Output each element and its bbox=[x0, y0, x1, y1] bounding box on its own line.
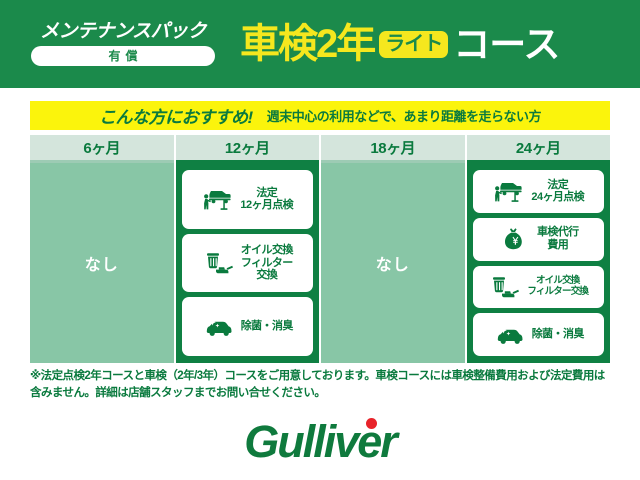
service-chip: オイル交換 フィルター交換 bbox=[473, 266, 605, 309]
car-lift-inspection-icon bbox=[492, 178, 526, 204]
schedule-column-3: 24ヶ月法定 24ヶ月点検車検代行 費用オイル交換 フィルター交換除菌・消臭 bbox=[467, 135, 611, 363]
column-header-label: 6ヶ月 bbox=[30, 135, 174, 160]
service-chip: 法定 24ヶ月点検 bbox=[473, 170, 605, 213]
header-pack-group: メンテナンスパック 有償 bbox=[12, 22, 234, 66]
header-course-group: 車検2年 ライト コース bbox=[240, 24, 640, 64]
no-service-label: なし bbox=[85, 251, 119, 275]
service-chip-label: オイル交換 フィルター 交換 bbox=[241, 244, 293, 282]
service-chip-label: 除菌・消臭 bbox=[241, 320, 293, 333]
car-lift-inspection-icon bbox=[201, 186, 235, 212]
sparkling-car-icon bbox=[493, 322, 527, 348]
oil-filter-change-icon bbox=[202, 250, 236, 276]
service-chip-label: 法定 24ヶ月点検 bbox=[531, 179, 584, 204]
column-body: なし bbox=[30, 163, 174, 363]
logo-i-dot-icon bbox=[366, 418, 377, 429]
service-chip-label: 法定 12ヶ月点検 bbox=[240, 187, 293, 212]
footnote-text: ※法定点検2年コースと車検（2年/3年）コースをご用意しております。車検コースに… bbox=[30, 368, 612, 401]
recommendation-heading: こんな方におすすめ! bbox=[99, 103, 253, 128]
maintenance-pack-promo-page: メンテナンスパック 有償 車検2年 ライト コース こんな方におすすめ! 週末中… bbox=[0, 0, 640, 480]
service-chip-label: 車検代行 費用 bbox=[537, 226, 579, 251]
service-chip: 除菌・消臭 bbox=[182, 297, 314, 356]
oil-filter-change-icon bbox=[488, 274, 522, 300]
column-body: 法定 24ヶ月点検車検代行 費用オイル交換 フィルター交換除菌・消臭 bbox=[467, 163, 611, 363]
maintenance-schedule-table: 6ヶ月なし12ヶ月法定 12ヶ月点検オイル交換 フィルター 交換除菌・消臭18ヶ… bbox=[30, 135, 610, 363]
column-header-label: 18ヶ月 bbox=[321, 135, 465, 160]
schedule-column-2: 18ヶ月なし bbox=[321, 135, 465, 363]
schedule-column-1: 12ヶ月法定 12ヶ月点検オイル交換 フィルター 交換除菌・消臭 bbox=[176, 135, 320, 363]
course-suffix-title: コース bbox=[453, 26, 559, 63]
pack-paid-badge: 有償 bbox=[31, 46, 215, 66]
service-chip: 除菌・消臭 bbox=[473, 313, 605, 356]
money-bag-yen-icon bbox=[498, 226, 532, 252]
schedule-column-0: 6ヶ月なし bbox=[30, 135, 174, 363]
service-chip: オイル交換 フィルター 交換 bbox=[182, 234, 314, 293]
page-header: メンテナンスパック 有償 車検2年 ライト コース bbox=[0, 0, 640, 88]
no-service-label: なし bbox=[376, 251, 410, 275]
course-light-badge: ライト bbox=[379, 31, 448, 58]
service-chip: 法定 12ヶ月点検 bbox=[182, 170, 314, 229]
recommendation-banner: こんな方におすすめ! 週末中心の利用などで、あまり距離を走らない方 bbox=[30, 101, 610, 130]
service-chip: 車検代行 費用 bbox=[473, 218, 605, 261]
column-header-label: 12ヶ月 bbox=[176, 135, 320, 160]
service-chip-label: 除菌・消臭 bbox=[532, 328, 584, 341]
recommendation-text: 週末中心の利用などで、あまり距離を走らない方 bbox=[267, 106, 541, 125]
column-body: なし bbox=[321, 163, 465, 363]
service-chip-label: オイル交換 フィルター交換 bbox=[527, 276, 588, 298]
sparkling-car-icon bbox=[202, 314, 236, 340]
pack-title: メンテナンスパック bbox=[40, 22, 206, 42]
brand-logo: Gulliver bbox=[0, 415, 640, 467]
column-header-label: 24ヶ月 bbox=[467, 135, 611, 160]
logo-wrap: Gulliver bbox=[244, 419, 396, 464]
course-main-title: 車検2年 bbox=[240, 24, 374, 64]
column-body: 法定 12ヶ月点検オイル交換 フィルター 交換除菌・消臭 bbox=[176, 163, 320, 363]
